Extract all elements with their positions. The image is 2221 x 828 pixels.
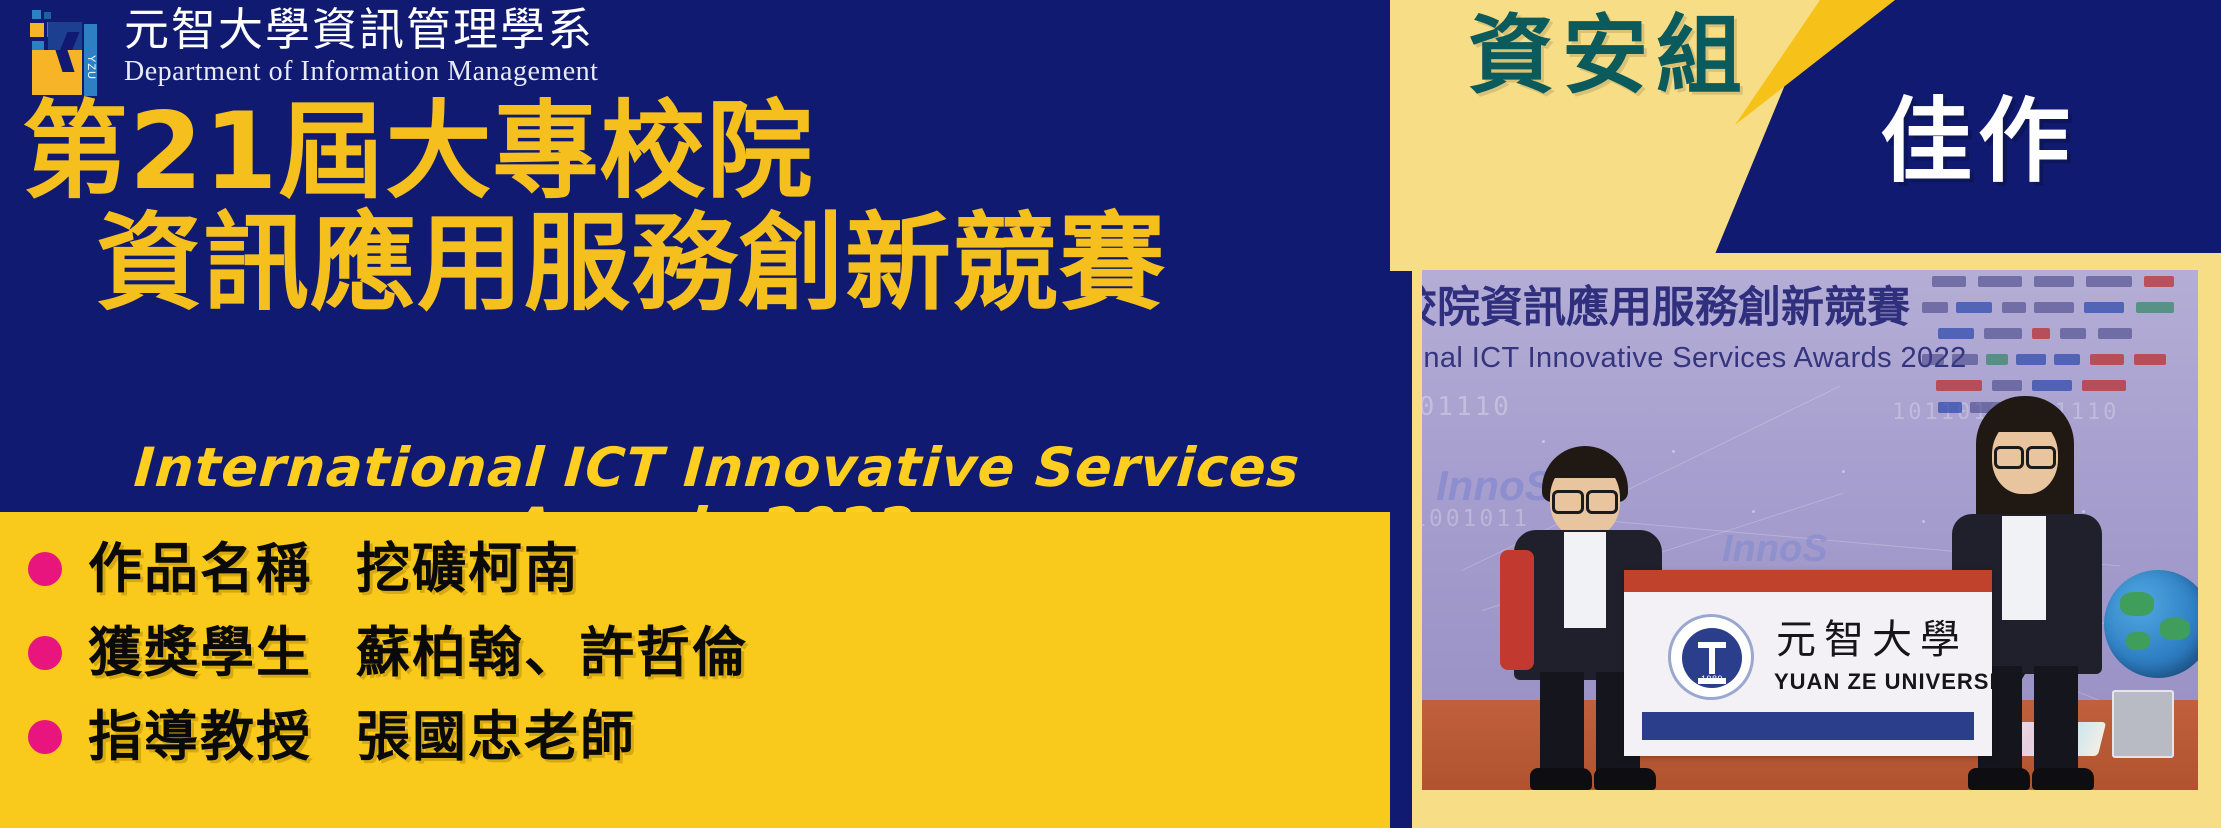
bullet-icon (28, 720, 62, 754)
entry-label-title: 作品名稱 (88, 539, 312, 599)
award-ceremony-photo: 校院資訊應用服務創新競賽 ional ICT Innovative Servic… (1422, 270, 2198, 790)
department-name-en: Department of Information Management (124, 56, 724, 88)
university-seal-icon: 1989 (1668, 614, 1754, 700)
photo-watermark-2: InnoS (1722, 528, 1828, 571)
award-rank-label: 佳作 (1880, 92, 2076, 192)
yzu-im-logo-icon: YZU (28, 10, 114, 96)
department-name-cn: 元智大學資訊管理學系 (124, 4, 724, 56)
photo-banner-title-en: ional ICT Innovative Services Awards 202… (1422, 342, 1967, 374)
flag-university-name-en: YUAN ZE UNIVERSITY (1774, 670, 2027, 694)
university-flag: 1989 元智大學 YUAN ZE UNIVERSITY (1624, 570, 1992, 756)
flag-university-name-cn: 元智大學 (1776, 618, 1968, 662)
entry-row-advisor: 指導教授 張國忠老師 (0, 700, 1390, 774)
competition-title-line1: 第21屆大專校院 (0, 96, 1390, 208)
entry-value-advisor: 張國忠老師 (356, 707, 636, 767)
department-logo-row: YZU 元智大學資訊管理學系 Department of Information… (28, 6, 728, 102)
award-announcement-banner: YZU 元智大學資訊管理學系 Department of Information… (0, 0, 2221, 828)
bullet-icon (28, 636, 62, 670)
photo-banner-title-cn: 校院資訊應用服務創新競賽 (1422, 284, 1910, 332)
award-category-label: 資安組 (1468, 8, 1750, 104)
sponsor-logo-strip (1922, 276, 2198, 416)
photo-binary-text-1: 101110 (1422, 392, 1512, 422)
entry-label-advisor: 指導教授 (88, 707, 312, 767)
entry-info-panel: 作品名稱 挖礦柯南 獲獎學生 蘇柏翰、許哲倫 指導教授 張國忠老師 (0, 512, 1390, 828)
bullet-icon (28, 552, 62, 586)
left-navy-panel: YZU 元智大學資訊管理學系 Department of Information… (0, 0, 1390, 828)
entry-label-students: 獲獎學生 (88, 623, 312, 683)
entry-value-students: 蘇柏翰、許哲倫 (356, 623, 748, 683)
seal-year: 1989 (1682, 674, 1742, 684)
competition-title-line2: 資訊應用服務創新競賽 (0, 208, 1390, 320)
flag-blue-stripe (1642, 712, 1974, 740)
entry-value-title: 挖礦柯南 (356, 539, 580, 599)
seal-inner-disc: 1989 (1682, 628, 1742, 688)
competition-title-cn: 第21屆大專校院 資訊應用服務創新競賽 (0, 96, 1390, 320)
flag-red-stripe (1624, 570, 1992, 592)
entry-row-students: 獲獎學生 蘇柏翰、許哲倫 (0, 616, 1390, 690)
entry-row-title: 作品名稱 挖礦柯南 (0, 532, 1390, 606)
department-logo-text: 元智大學資訊管理學系 Department of Information Man… (124, 4, 724, 88)
